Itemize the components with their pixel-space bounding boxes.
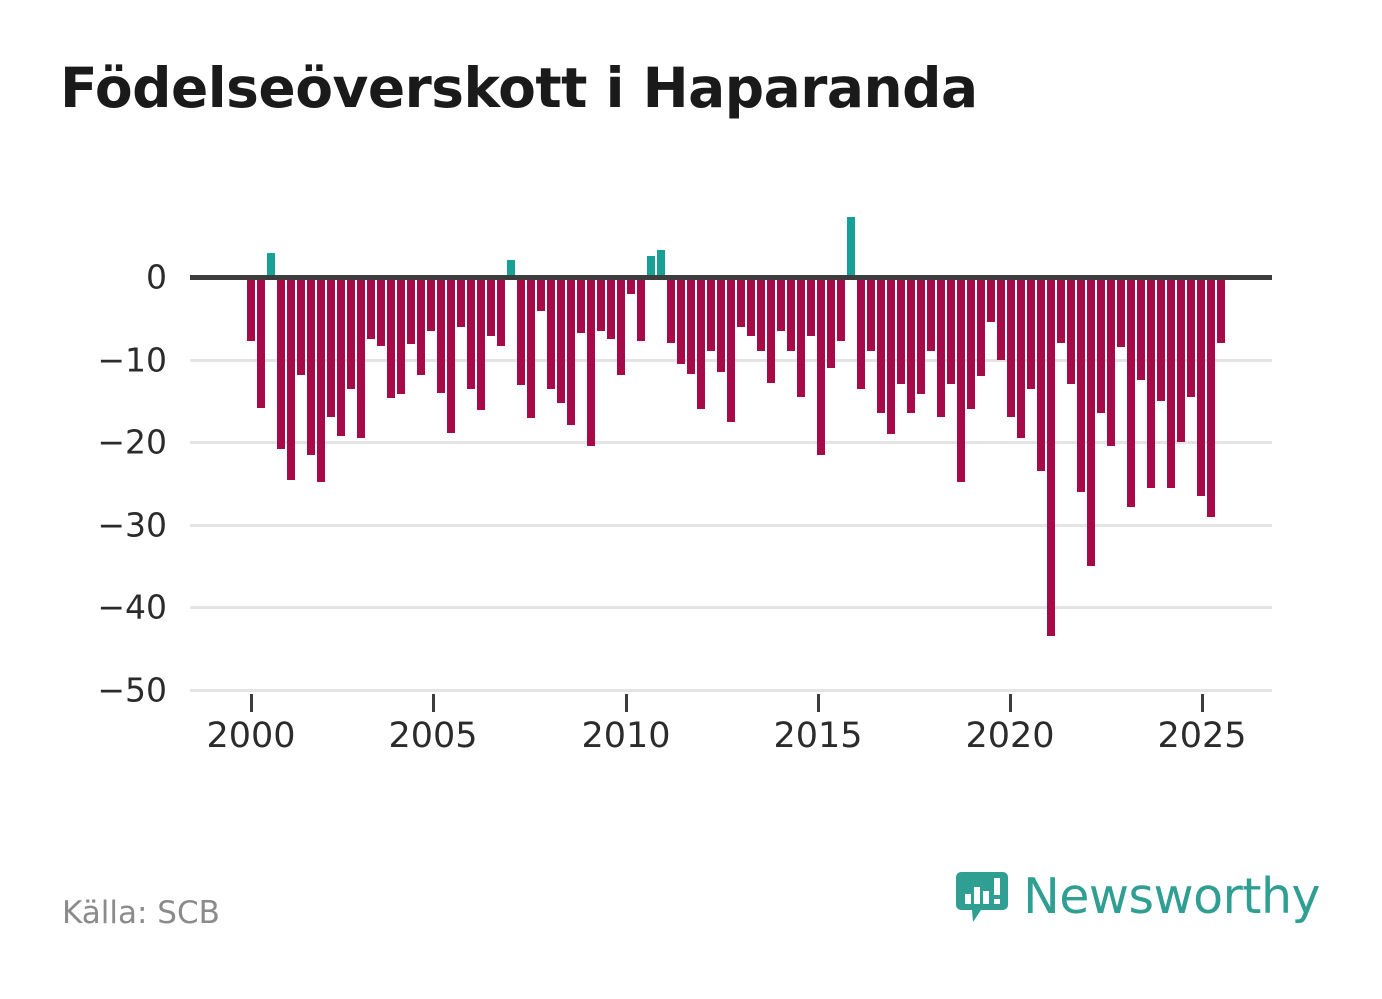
chart-bar[interactable] (367, 277, 375, 339)
x-axis-tick-mark (1201, 694, 1204, 712)
y-axis-tick-label: 0 (47, 258, 167, 297)
gridline (190, 689, 1272, 692)
chart-bar[interactable] (737, 277, 745, 327)
chart-bar[interactable] (1167, 277, 1175, 488)
x-axis-tick-mark (432, 694, 435, 712)
chart-bar[interactable] (417, 277, 425, 375)
x-axis-tick-mark (1009, 694, 1012, 712)
chart-bar[interactable] (837, 277, 845, 341)
chart-bar[interactable] (597, 277, 605, 331)
chart-bar[interactable] (607, 277, 615, 339)
chart-bar[interactable] (1077, 277, 1085, 492)
chart-bar[interactable] (847, 217, 855, 277)
y-axis-tick-label: −20 (47, 423, 167, 462)
chart-bar[interactable] (927, 277, 935, 351)
chart-bar[interactable] (877, 277, 885, 413)
chart-bar[interactable] (747, 277, 755, 336)
chart-bar[interactable] (717, 277, 725, 372)
chart-bar[interactable] (677, 277, 685, 364)
chart-bar[interactable] (917, 277, 925, 394)
chart-bar[interactable] (1057, 277, 1065, 343)
chart-bar[interactable] (767, 277, 775, 383)
chart-bar[interactable] (897, 277, 905, 384)
chart-bar[interactable] (387, 277, 395, 398)
chart-bar[interactable] (1017, 277, 1025, 438)
chart-bar[interactable] (827, 277, 835, 368)
chart-bar[interactable] (397, 277, 405, 394)
gridline (190, 524, 1272, 527)
chart-bar[interactable] (257, 277, 265, 408)
zero-axis-line (190, 275, 1272, 280)
chart-bar[interactable] (987, 277, 995, 322)
chart-bar[interactable] (957, 277, 965, 482)
chart-bar[interactable] (857, 277, 865, 389)
gridline (190, 606, 1272, 609)
chart-bar[interactable] (867, 277, 875, 351)
chart-bar[interactable] (337, 277, 345, 436)
x-axis-tick-label: 2005 (388, 716, 477, 756)
chart-bar[interactable] (727, 277, 735, 422)
newsworthy-bar-bubble-logo (955, 870, 1009, 924)
chart-bar[interactable] (907, 277, 915, 413)
chart-bar[interactable] (1097, 277, 1105, 413)
chart-bar[interactable] (707, 277, 715, 351)
chart-bar[interactable] (1067, 277, 1075, 384)
y-axis-tick-label: −40 (47, 588, 167, 627)
chart-bar[interactable] (247, 277, 255, 341)
chart-bar[interactable] (1207, 277, 1215, 517)
chart-bar[interactable] (687, 277, 695, 374)
y-axis-tick-label: −50 (47, 671, 167, 710)
chart-bar[interactable] (797, 277, 805, 397)
chart-bar[interactable] (567, 277, 575, 425)
chart-bar[interactable] (407, 277, 415, 344)
chart-bar[interactable] (537, 277, 545, 311)
y-axis-tick-label: −30 (47, 505, 167, 544)
chart-bar[interactable] (267, 253, 275, 277)
chart-bar[interactable] (1037, 277, 1045, 471)
chart-bar[interactable] (697, 277, 705, 409)
chart-bar[interactable] (557, 277, 565, 403)
x-axis-tick-label: 2010 (581, 716, 670, 756)
chart-bar[interactable] (817, 277, 825, 455)
x-axis-tick-label: 2020 (965, 716, 1054, 756)
chart-bar[interactable] (1157, 277, 1165, 401)
chart-bar[interactable] (977, 277, 985, 376)
chart-bar[interactable] (377, 277, 385, 346)
chart-bar[interactable] (287, 277, 295, 480)
y-axis-tick-label: −10 (47, 340, 167, 379)
chart-plot-area: 0−10−20−30−40−50200020052010201520202025 (0, 0, 1382, 999)
chart-bar[interactable] (787, 277, 795, 351)
x-axis-tick-label: 2015 (773, 716, 862, 756)
chart-bar[interactable] (317, 277, 325, 482)
chart-bar[interactable] (427, 277, 435, 331)
chart-bar[interactable] (947, 277, 955, 384)
chart-bar[interactable] (297, 277, 305, 375)
chart-bar[interactable] (347, 277, 355, 389)
chart-bar[interactable] (477, 277, 485, 410)
x-axis-tick-mark (250, 694, 253, 712)
chart-bar[interactable] (617, 277, 625, 375)
chart-bar[interactable] (587, 277, 595, 446)
x-axis-tick-label: 2025 (1157, 716, 1246, 756)
chart-bar[interactable] (1217, 277, 1225, 343)
x-axis-tick-mark (625, 694, 628, 712)
x-axis-tick-label: 2000 (206, 716, 295, 756)
chart-bar[interactable] (1007, 277, 1015, 417)
chart-bar[interactable] (1107, 277, 1115, 446)
chart-bar[interactable] (777, 277, 785, 331)
x-axis-tick-mark (817, 694, 820, 712)
chart-bar[interactable] (1127, 277, 1135, 507)
source-note: Källa: SCB (62, 895, 220, 931)
chart-bar[interactable] (467, 277, 475, 389)
chart-bar[interactable] (657, 250, 665, 277)
chart-bar[interactable] (527, 277, 535, 418)
chart-bar[interactable] (1177, 277, 1185, 442)
chart-bar[interactable] (937, 277, 945, 417)
chart-bar[interactable] (637, 277, 645, 341)
chart-bar[interactable] (1197, 277, 1205, 496)
chart-bar[interactable] (327, 277, 335, 417)
chart-page: Födelseöverskott i Haparanda 0−10−20−30−… (0, 0, 1382, 999)
chart-bar[interactable] (1137, 277, 1145, 380)
chart-bar[interactable] (547, 277, 555, 389)
chart-bar[interactable] (997, 277, 1005, 360)
chart-bar[interactable] (517, 277, 525, 385)
chart-bar[interactable] (1087, 277, 1095, 566)
chart-bar[interactable] (967, 277, 975, 409)
chart-bar[interactable] (277, 277, 285, 449)
chart-bar[interactable] (357, 277, 365, 438)
chart-bar[interactable] (1187, 277, 1195, 397)
chart-bar[interactable] (447, 277, 455, 433)
chart-bar[interactable] (1027, 277, 1035, 389)
chart-bar[interactable] (807, 277, 815, 336)
chart-bar[interactable] (1147, 277, 1155, 488)
brand-logo: Newsworthy (955, 868, 1320, 925)
chart-bar[interactable] (757, 277, 765, 351)
chart-bar[interactable] (497, 277, 505, 346)
chart-bar[interactable] (1117, 277, 1125, 347)
chart-bar[interactable] (487, 277, 495, 336)
chart-bar[interactable] (307, 277, 315, 455)
brand-name: Newsworthy (1023, 868, 1320, 925)
chart-bar[interactable] (457, 277, 465, 327)
chart-bar[interactable] (667, 277, 675, 343)
chart-bar[interactable] (1047, 277, 1055, 636)
chart-bar[interactable] (887, 277, 895, 434)
chart-bar[interactable] (577, 277, 585, 333)
chart-bar[interactable] (437, 277, 445, 393)
chart-bar[interactable] (647, 256, 655, 277)
